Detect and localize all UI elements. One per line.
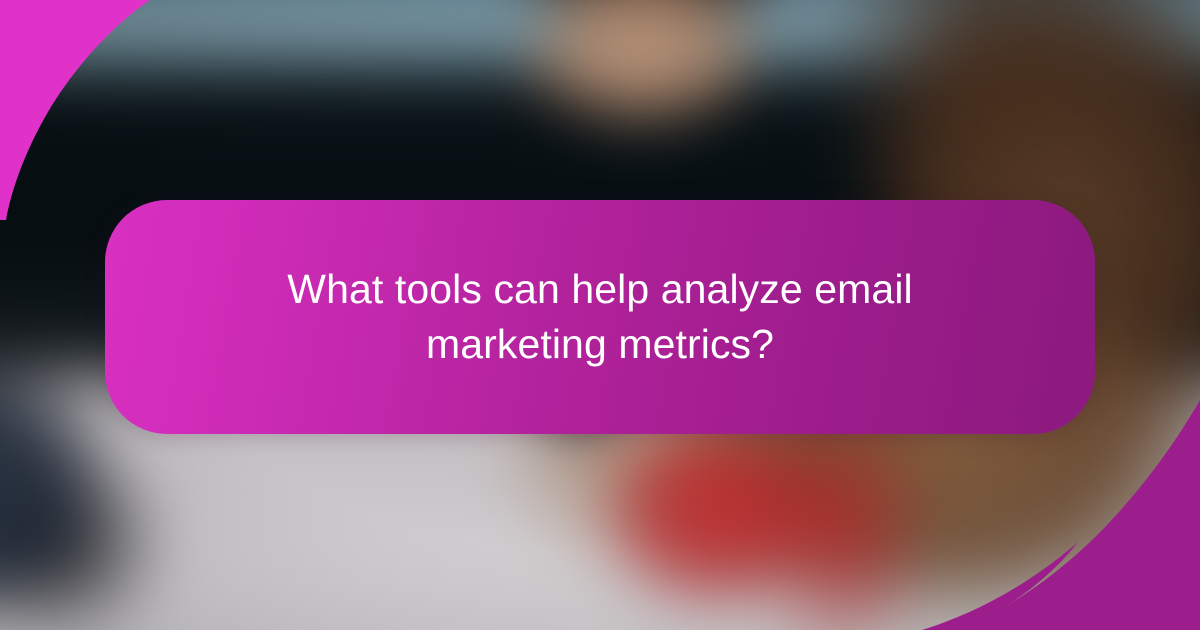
- page-title: What tools can help analyze email market…: [250, 262, 950, 372]
- share-card-canvas: What tools can help analyze email market…: [0, 0, 1200, 630]
- headline-card: What tools can help analyze email market…: [105, 200, 1095, 434]
